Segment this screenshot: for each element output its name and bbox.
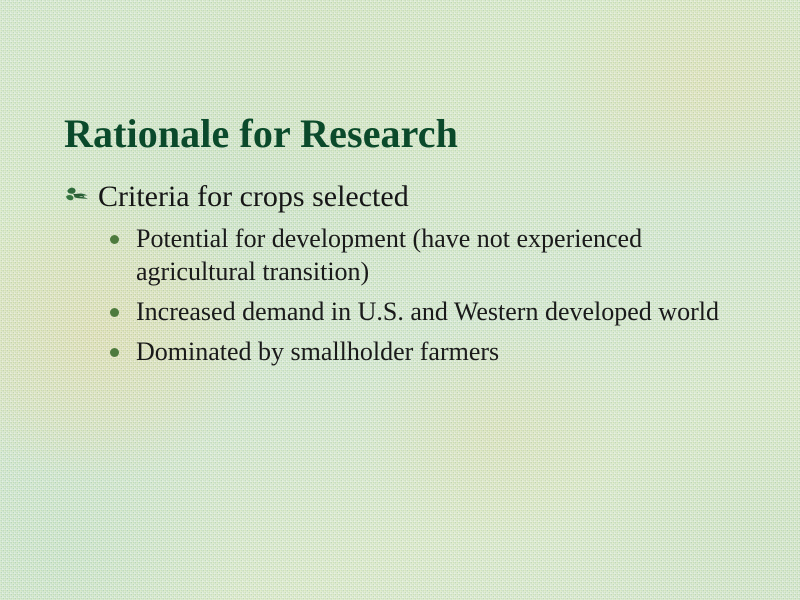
bullet-level2-label: Dominated by smallholder farmers: [136, 337, 499, 366]
slide-content: Rationale for Research Criteria for crop…: [0, 0, 800, 600]
slide-body: Criteria for crops selected Potential fo…: [64, 178, 754, 375]
round-bullet-icon: [110, 235, 119, 244]
slide-title: Rationale for Research: [64, 111, 764, 157]
bullet-level2-list: Potential for development (have not expe…: [64, 222, 754, 368]
bullet-level2-label: Potential for development (have not expe…: [136, 224, 642, 286]
bullet-level1: Criteria for crops selected: [64, 178, 754, 216]
round-bullet-icon: [110, 308, 119, 317]
vine-leaf-bullet-icon: [64, 182, 92, 208]
bullet-level1-label: Criteria for crops selected: [98, 180, 409, 213]
bullet-level2-item: Increased demand in U.S. and Western dev…: [64, 295, 754, 328]
round-bullet-icon: [110, 348, 119, 357]
presentation-slide: Rationale for Research Criteria for crop…: [0, 0, 800, 600]
bullet-level2-item: Dominated by smallholder farmers: [64, 335, 754, 368]
bullet-level2-label: Increased demand in U.S. and Western dev…: [136, 297, 719, 326]
bullet-level2-item: Potential for development (have not expe…: [64, 222, 754, 288]
